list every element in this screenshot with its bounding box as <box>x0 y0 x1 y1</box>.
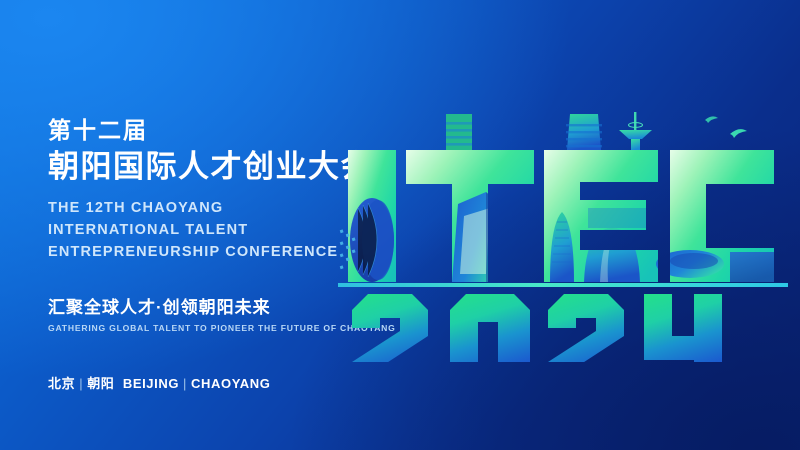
logo-baseline-bar <box>338 283 788 287</box>
page-title: 朝阳国际人才创业大会 <box>48 150 378 185</box>
location-city-cn: 北京 <box>48 376 75 391</box>
wordmark-itec <box>348 150 774 282</box>
english-title: THE 12TH CHAOYANG INTERNATIONAL TALENT E… <box>48 197 378 263</box>
slim-banded-block-icon <box>400 212 412 282</box>
digit-2-first <box>352 294 428 362</box>
digit-0 <box>450 294 530 362</box>
digit-2-second <box>548 294 624 362</box>
english-title-line-2: INTERNATIONAL TALENT <box>48 219 378 241</box>
bird-icon-1 <box>730 129 747 138</box>
itec-logo-lockup <box>338 112 788 362</box>
slab-block-icon <box>730 252 774 282</box>
slogan-chinese: 汇聚全球人才·创领朝阳未来 <box>48 293 378 318</box>
conference-poster: 第十二届 朝阳国际人才创业大会 THE 12TH CHAOYANG INTERN… <box>0 0 800 450</box>
tv-tower-icon <box>619 112 652 150</box>
location-separator-2: | <box>179 376 191 391</box>
dome-building-icon <box>584 228 640 282</box>
location-city-en: BEIJING <box>123 376 179 391</box>
location-district-en: CHAOYANG <box>191 376 270 391</box>
oval-theatre-icon <box>350 198 394 282</box>
location-separator-1: | <box>75 376 87 391</box>
skyline-above <box>446 112 747 150</box>
year-2024 <box>352 294 722 362</box>
bird-icon-2 <box>705 116 718 123</box>
location-line: 北京|朝阳 BEIJING|CHAOYANG <box>48 373 378 392</box>
digit-4 <box>644 294 722 362</box>
slogan-english: GATHERING GLOBAL TALENT TO PIONEER THE F… <box>48 323 378 333</box>
location-district-cn: 朝阳 <box>87 376 114 391</box>
tapered-tower-icon <box>452 192 502 282</box>
headline-text-block: 第十二届 朝阳国际人才创业大会 THE 12TH CHAOYANG INTERN… <box>48 118 378 392</box>
facade-grid-icon <box>588 208 646 228</box>
edition-label: 第十二届 <box>48 118 378 143</box>
english-title-line-1: THE 12TH CHAOYANG <box>48 197 378 219</box>
tower-banded-right-icon <box>566 114 602 150</box>
english-title-line-3: ENTREPRENEURSHIP CONFERENCE <box>48 241 378 263</box>
tower-banded-left-icon <box>446 114 472 150</box>
stadium-oval-icon <box>656 250 724 278</box>
